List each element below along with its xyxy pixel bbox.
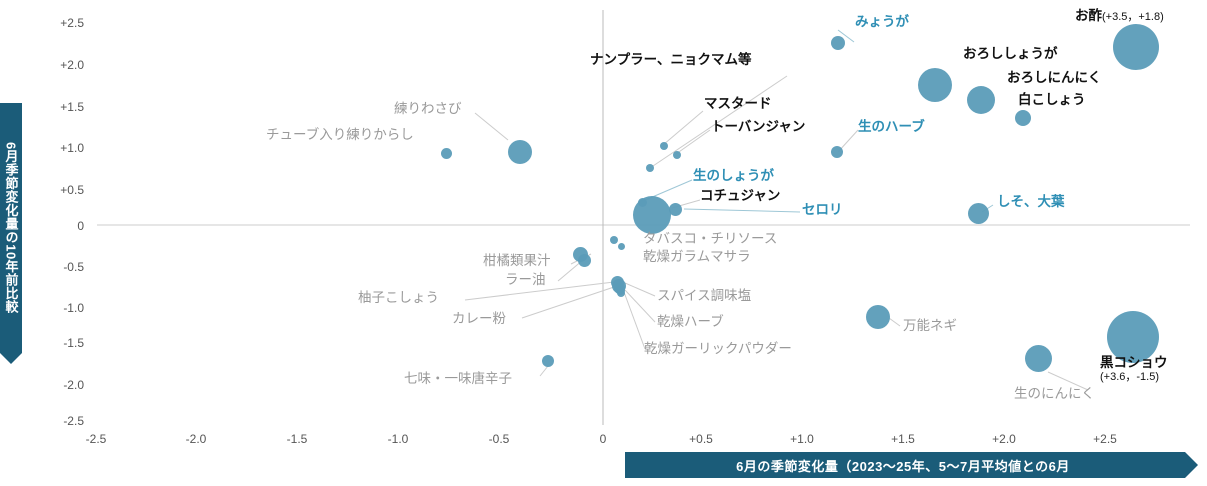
label-yuzu-kosho: 柚子こしょう bbox=[358, 290, 439, 306]
label-spice-salt: スパイス調味塩 bbox=[657, 288, 751, 304]
x-tick-3: -1.0 bbox=[368, 432, 428, 446]
data-point-tube-karashi[interactable] bbox=[441, 148, 452, 159]
y-tick-7: -1.0 bbox=[34, 301, 84, 315]
x-tick-1: -2.0 bbox=[166, 432, 226, 446]
y-tick-8: -1.5 bbox=[34, 336, 84, 350]
label-neri-wasabi: 練りわさび bbox=[394, 101, 462, 117]
label-myoga: みょうが bbox=[855, 14, 909, 30]
data-point-nama-herb[interactable] bbox=[831, 146, 843, 158]
data-point-celery[interactable] bbox=[633, 196, 671, 234]
y-tick-0: +2.5 bbox=[34, 16, 84, 30]
x-tick-8: +1.5 bbox=[873, 432, 933, 446]
label-toban: トーバンジャン bbox=[711, 119, 805, 135]
data-point-nampla[interactable] bbox=[646, 164, 654, 172]
label-shiso: しそ、大葉 bbox=[997, 194, 1065, 210]
x-tick-7: +1.0 bbox=[772, 432, 832, 446]
x-tick-4: -0.5 bbox=[469, 432, 529, 446]
data-point-shiso[interactable] bbox=[968, 203, 989, 224]
label-nama-shoga: 生のしょうが bbox=[693, 168, 774, 184]
data-point-oroshi-shoga[interactable] bbox=[918, 68, 952, 102]
data-point-myoga[interactable] bbox=[831, 36, 845, 50]
data-point-garam[interactable] bbox=[618, 243, 625, 250]
data-point-neri-wasabi[interactable] bbox=[508, 140, 532, 164]
y-tick-3: +1.0 bbox=[34, 141, 84, 155]
x-axis-label: 6月の季節変化量（2023〜25年、5〜7月平均値との6月 bbox=[625, 452, 1185, 478]
label-dry-herb: 乾燥ハーブ bbox=[657, 314, 724, 330]
label-garlic-powder: 乾燥ガーリックパウダー bbox=[644, 341, 792, 357]
data-point-garlic-powder[interactable] bbox=[617, 289, 625, 297]
label-curry: カレー粉 bbox=[452, 311, 506, 327]
y-tick-4: +0.5 bbox=[34, 183, 84, 197]
data-point-rayu[interactable] bbox=[578, 254, 591, 267]
data-point-nama-ninniku[interactable] bbox=[1025, 345, 1052, 372]
label-kuro-kosho: 黒コショウ (+3.6，-1.5) bbox=[1100, 355, 1168, 383]
label-nampla: ナンプラー、ニョクマム等 bbox=[590, 52, 751, 68]
x-tick-5: 0 bbox=[573, 432, 633, 446]
label-oroshi-shoga: おろししょうが bbox=[963, 46, 1058, 62]
x-tick-6: +0.5 bbox=[671, 432, 731, 446]
y-axis-label: 6月季節変化量の10年前比較 bbox=[0, 103, 22, 353]
data-point-osu[interactable] bbox=[1113, 24, 1159, 70]
label-mustard: マスタード bbox=[704, 96, 772, 112]
y-tick-6: -0.5 bbox=[34, 260, 84, 274]
label-tube-karashi: チューブ入り練りからし bbox=[266, 127, 414, 143]
y-tick-10: -2.5 bbox=[34, 414, 84, 428]
x-tick-9: +2.0 bbox=[974, 432, 1034, 446]
y-tick-2: +1.5 bbox=[34, 100, 84, 114]
y-tick-9: -2.0 bbox=[34, 378, 84, 392]
y-tick-1: +2.0 bbox=[34, 58, 84, 72]
label-rayu: ラー油 bbox=[505, 272, 546, 288]
data-point-shiro-kosho[interactable] bbox=[1015, 110, 1031, 126]
data-point-tabasco[interactable] bbox=[610, 236, 618, 244]
x-tick-10: +2.5 bbox=[1075, 432, 1135, 446]
data-point-mustard[interactable] bbox=[660, 142, 668, 150]
label-osu-note: (+3.5，+1.8) bbox=[1102, 11, 1164, 23]
label-nama-ninniku: 生のにんにく bbox=[1014, 386, 1095, 402]
x-tick-2: -1.5 bbox=[267, 432, 327, 446]
y-tick-5: 0 bbox=[34, 219, 84, 233]
scatter-chart: 6月季節変化量の10年前比較 6月の季節変化量（2023〜25年、5〜7月平均値… bbox=[0, 0, 1207, 486]
label-garam: 乾燥ガラムマサラ bbox=[643, 249, 751, 265]
data-point-toban[interactable] bbox=[673, 151, 681, 159]
label-kuro-kosho-note: (+3.6，-1.5) bbox=[1100, 371, 1168, 384]
x-tick-0: -2.5 bbox=[66, 432, 126, 446]
label-shichimi: 七味・一味唐辛子 bbox=[404, 371, 512, 387]
label-nama-herb: 生のハーブ bbox=[858, 119, 925, 135]
label-bannou-negi: 万能ネギ bbox=[903, 318, 957, 334]
data-point-oroshi-ninniku[interactable] bbox=[967, 86, 995, 114]
label-gochujang: コチュジャン bbox=[700, 188, 780, 204]
label-shiro-kosho: 白こしょう bbox=[1018, 92, 1086, 108]
label-oroshi-ninniku: おろしにんにく bbox=[1007, 70, 1101, 86]
label-osu-text: お酢 bbox=[1075, 8, 1102, 23]
data-point-bannou-negi[interactable] bbox=[866, 305, 890, 329]
label-celery: セロリ bbox=[802, 202, 843, 218]
label-osu: お酢(+3.5，+1.8) bbox=[1075, 8, 1164, 24]
label-kuro-kosho-text: 黒コショウ bbox=[1100, 355, 1168, 371]
data-point-shichimi[interactable] bbox=[542, 355, 554, 367]
label-kankitsu: 柑橘類果汁 bbox=[483, 253, 551, 269]
label-tabasco: タバスコ・チリソース bbox=[643, 231, 777, 247]
